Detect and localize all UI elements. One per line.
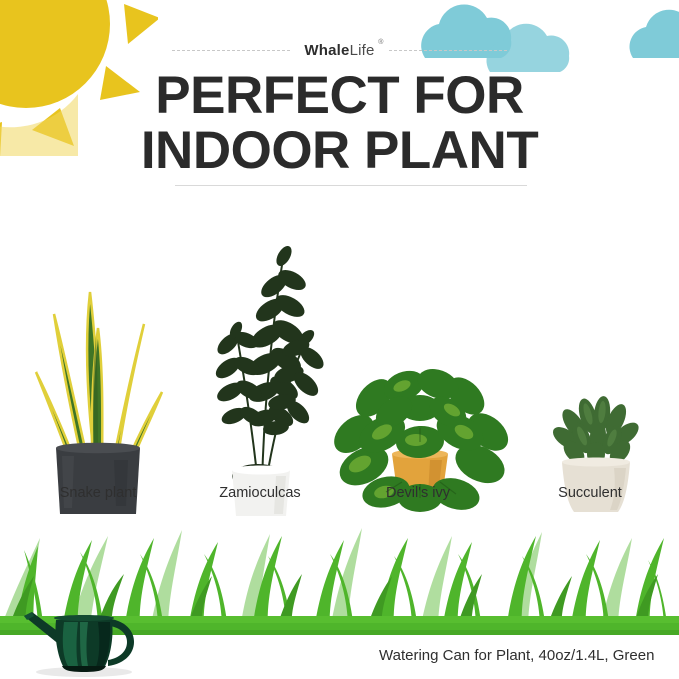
brand-name-bold: Whale bbox=[304, 42, 349, 59]
headline-line-2: INDOOR PLANT bbox=[0, 123, 679, 178]
page-title: PERFECT FOR INDOOR PLANT bbox=[0, 68, 679, 178]
headline-line-1: PERFECT FOR bbox=[155, 66, 523, 125]
plant-caption-snake-plant: Snake plant bbox=[18, 485, 178, 501]
plant-caption-succulent: Succulent bbox=[510, 485, 670, 501]
registered-mark-icon: ® bbox=[378, 39, 383, 46]
title-underline bbox=[175, 185, 527, 186]
divider-left bbox=[172, 50, 290, 51]
plant-caption-zamioculcas: Zamioculcas bbox=[180, 485, 340, 501]
brand-logo-row: WhaleLife® bbox=[0, 38, 679, 62]
divider-right bbox=[389, 50, 507, 51]
plant-image-zamioculcas bbox=[188, 226, 330, 516]
product-caption: Watering Can for Plant, 40oz/1.4L, Green bbox=[379, 647, 654, 664]
brand-name-light: Life bbox=[350, 42, 375, 59]
brand-logo: WhaleLife® bbox=[304, 42, 374, 59]
plant-gallery bbox=[0, 196, 679, 516]
plant-caption-devils-ivy: Devil's ivy bbox=[338, 485, 498, 501]
watering-can-image bbox=[18, 596, 164, 679]
grass-graphic bbox=[0, 520, 679, 635]
plant-image-snake-plant bbox=[28, 236, 168, 516]
plant-captions: Snake plant Zamioculcas Devil's ivy Succ… bbox=[0, 485, 679, 507]
infographic-page: WhaleLife® PERFECT FOR INDOOR PLANT bbox=[0, 0, 679, 679]
